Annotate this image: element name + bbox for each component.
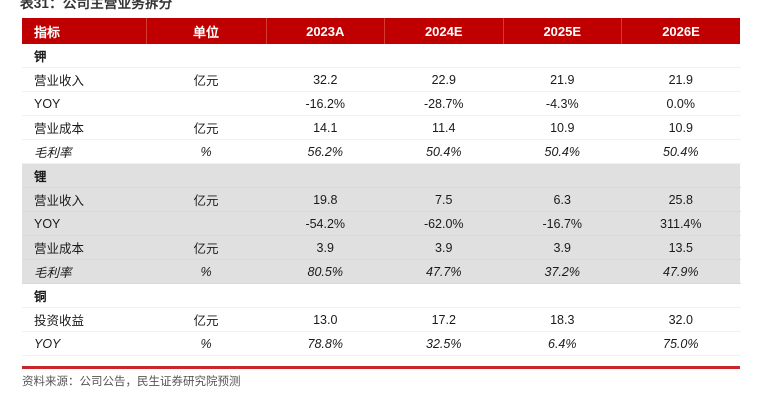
row-value-2025e: 10.9 xyxy=(503,116,622,140)
section-name: 钾 xyxy=(22,44,146,68)
table-header: 指标 单位 2023A 2024E 2025E 2026E xyxy=(22,18,740,44)
row-value-2026e: 311.4% xyxy=(622,212,741,236)
section-blank-2023a xyxy=(266,44,385,68)
table-figure: 表31：公司主营业务拆分 指标 单位 2023A 2024E 2025E 202… xyxy=(0,0,763,406)
section-blank-2026e xyxy=(622,44,741,68)
table-row: 营业成本亿元14.111.410.910.9 xyxy=(22,116,740,140)
row-unit xyxy=(146,92,266,116)
row-metric: 营业成本 xyxy=(22,236,146,260)
row-value-2025e: -4.3% xyxy=(503,92,622,116)
section-blank-2023a xyxy=(266,284,385,308)
row-value-2024e: -62.0% xyxy=(385,212,504,236)
table-row: YOY-16.2%-28.7%-4.3%0.0% xyxy=(22,92,740,116)
row-value-2024e: 22.9 xyxy=(385,68,504,92)
section-name: 铜 xyxy=(22,284,146,308)
row-unit: 亿元 xyxy=(146,308,266,332)
row-value-2025e: 37.2% xyxy=(503,260,622,284)
column-header-2024e: 2024E xyxy=(385,18,504,44)
row-value-2023a: 32.2 xyxy=(266,68,385,92)
section-blank-2025e xyxy=(503,164,622,188)
section-header-row: 钾 xyxy=(22,44,740,68)
source-note: 资料来源：公司公告，民生证券研究院预测 xyxy=(22,373,241,389)
row-value-2023a: -54.2% xyxy=(266,212,385,236)
column-header-2025e: 2025E xyxy=(503,18,622,44)
section-name: 锂 xyxy=(22,164,146,188)
row-value-2026e: 75.0% xyxy=(622,332,741,356)
row-value-2026e: 21.9 xyxy=(622,68,741,92)
row-value-2026e: 32.0 xyxy=(622,308,741,332)
row-metric: 营业收入 xyxy=(22,68,146,92)
row-metric: 毛利率 xyxy=(22,260,146,284)
row-unit: 亿元 xyxy=(146,188,266,212)
table-row: 营业收入亿元19.87.56.325.8 xyxy=(22,188,740,212)
table-row: 投资收益亿元13.017.218.332.0 xyxy=(22,308,740,332)
row-unit: % xyxy=(146,332,266,356)
row-unit: % xyxy=(146,260,266,284)
column-header-2026e: 2026E xyxy=(622,18,741,44)
table-row: 毛利率%80.5%47.7%37.2%47.9% xyxy=(22,260,740,284)
row-value-2024e: -28.7% xyxy=(385,92,504,116)
section-header-row: 铜 xyxy=(22,284,740,308)
row-metric: YOY xyxy=(22,212,146,236)
section-blank-2026e xyxy=(622,164,741,188)
table-row: 营业成本亿元3.93.93.913.5 xyxy=(22,236,740,260)
row-value-2023a: 78.8% xyxy=(266,332,385,356)
section-blank-unit xyxy=(146,44,266,68)
row-value-2026e: 13.5 xyxy=(622,236,741,260)
row-unit xyxy=(146,212,266,236)
row-value-2024e: 11.4 xyxy=(385,116,504,140)
section-blank-2024e xyxy=(385,164,504,188)
section-blank-unit xyxy=(146,164,266,188)
row-value-2025e: 3.9 xyxy=(503,236,622,260)
row-value-2023a: 80.5% xyxy=(266,260,385,284)
table-row: 营业收入亿元32.222.921.921.9 xyxy=(22,68,740,92)
row-unit: 亿元 xyxy=(146,68,266,92)
row-value-2023a: 19.8 xyxy=(266,188,385,212)
row-unit: 亿元 xyxy=(146,116,266,140)
row-metric: 营业收入 xyxy=(22,188,146,212)
table-row: YOY-54.2%-62.0%-16.7%311.4% xyxy=(22,212,740,236)
row-value-2023a: 13.0 xyxy=(266,308,385,332)
table-header-row: 指标 单位 2023A 2024E 2025E 2026E xyxy=(22,18,740,44)
column-header-metric: 指标 xyxy=(22,18,146,44)
row-value-2026e: 25.8 xyxy=(622,188,741,212)
section-blank-2024e xyxy=(385,44,504,68)
row-value-2026e: 50.4% xyxy=(622,140,741,164)
row-metric: 毛利率 xyxy=(22,140,146,164)
row-metric: YOY xyxy=(22,332,146,356)
row-value-2025e: 6.4% xyxy=(503,332,622,356)
section-blank-2025e xyxy=(503,284,622,308)
row-value-2026e: 0.0% xyxy=(622,92,741,116)
row-value-2026e: 47.9% xyxy=(622,260,741,284)
row-value-2025e: 6.3 xyxy=(503,188,622,212)
row-value-2024e: 17.2 xyxy=(385,308,504,332)
financial-table: 指标 单位 2023A 2024E 2025E 2026E 钾营业收入亿元32.… xyxy=(22,18,741,356)
row-unit: 亿元 xyxy=(146,236,266,260)
row-value-2026e: 10.9 xyxy=(622,116,741,140)
section-blank-2024e xyxy=(385,284,504,308)
table-bottom-rule xyxy=(22,366,740,369)
financial-table-container: 指标 单位 2023A 2024E 2025E 2026E 钾营业收入亿元32.… xyxy=(22,18,740,356)
row-value-2024e: 47.7% xyxy=(385,260,504,284)
section-blank-2025e xyxy=(503,44,622,68)
row-unit: % xyxy=(146,140,266,164)
row-value-2024e: 50.4% xyxy=(385,140,504,164)
table-row: 毛利率%56.2%50.4%50.4%50.4% xyxy=(22,140,740,164)
page-title: 表31：公司主营业务拆分 xyxy=(20,0,172,12)
row-metric: 投资收益 xyxy=(22,308,146,332)
row-value-2025e: -16.7% xyxy=(503,212,622,236)
row-value-2025e: 50.4% xyxy=(503,140,622,164)
column-header-unit: 单位 xyxy=(146,18,266,44)
table-row: YOY%78.8%32.5%6.4%75.0% xyxy=(22,332,740,356)
section-blank-2026e xyxy=(622,284,741,308)
row-value-2023a: -16.2% xyxy=(266,92,385,116)
row-value-2024e: 7.5 xyxy=(385,188,504,212)
row-metric: 营业成本 xyxy=(22,116,146,140)
column-header-2023a: 2023A xyxy=(266,18,385,44)
row-metric: YOY xyxy=(22,92,146,116)
section-header-row: 锂 xyxy=(22,164,740,188)
row-value-2025e: 21.9 xyxy=(503,68,622,92)
row-value-2023a: 3.9 xyxy=(266,236,385,260)
row-value-2024e: 32.5% xyxy=(385,332,504,356)
section-blank-unit xyxy=(146,284,266,308)
row-value-2023a: 56.2% xyxy=(266,140,385,164)
row-value-2024e: 3.9 xyxy=(385,236,504,260)
row-value-2023a: 14.1 xyxy=(266,116,385,140)
section-blank-2023a xyxy=(266,164,385,188)
row-value-2025e: 18.3 xyxy=(503,308,622,332)
table-body: 钾营业收入亿元32.222.921.921.9YOY-16.2%-28.7%-4… xyxy=(22,44,740,356)
